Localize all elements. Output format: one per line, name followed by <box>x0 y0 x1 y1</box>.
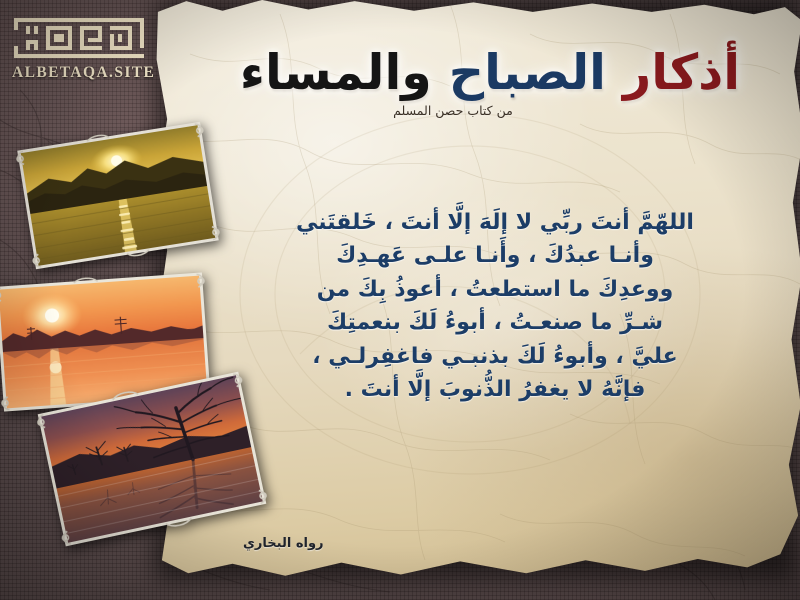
hadith-attribution: رواه البخاري <box>243 536 324 551</box>
page-subtitle: من كتاب حصن المسلم <box>200 103 706 118</box>
site-name-label: ALBETAQA.SITE <box>12 65 152 81</box>
title-word-walmasaa: والمساء <box>240 44 432 101</box>
dhikr-text-block: اللهّمَّ أنتَ ربِّي لا إلَهَ إلَّا أنتَ … <box>260 206 730 407</box>
poster-canvas: ALBETAQA.SITE أذكار الصباح والمساء من كت… <box>0 0 800 600</box>
dhikr-line: وأنـا عبدُكَ ، وأَنـا علـى عَهـدِكَ <box>260 239 730 272</box>
dhikr-line: ووعدِكَ ما استطعتُ ، أعوذُ بِكَ من <box>260 273 730 306</box>
dhikr-line: شـرِّ ما صنعـتُ ، أبوءُ لَكَ بنعمتِكَ <box>260 306 730 339</box>
title-word-assabah: الصباح <box>449 44 606 101</box>
title-word-adhkar: أذكار <box>623 44 740 101</box>
albetaqa-kufic-logo-icon <box>12 14 146 62</box>
dhikr-line: اللهّمَّ أنتَ ربِّي لا إلَهَ إلَّا أنتَ … <box>260 206 730 239</box>
dhikr-line: عليَّ ، وأبوءُ لَكَ بذنبـي فاغفِرلـي ، <box>260 340 730 373</box>
page-title: أذكار الصباح والمساء <box>200 48 780 97</box>
title-block: أذكار الصباح والمساء من كتاب حصن المسلم <box>200 48 780 118</box>
site-logo[interactable]: ALBETAQA.SITE <box>12 14 152 81</box>
dhikr-line: فإنَّهُ لا يغفرُ الذُّنوبَ إلَّا أنتَ . <box>260 373 730 406</box>
